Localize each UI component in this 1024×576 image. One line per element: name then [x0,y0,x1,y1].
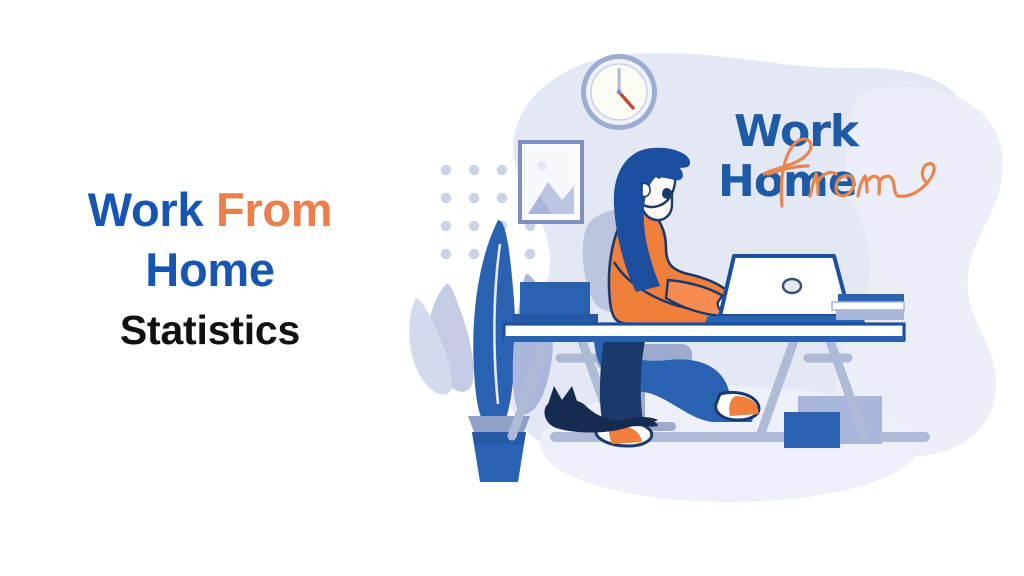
illustration [400,24,1024,552]
headline-line-1: Work From [0,180,420,240]
work-from-home-logo: Work Home [718,108,948,234]
floor-boxes [784,396,882,448]
logo-script-from [746,130,946,216]
headline-word-from: From [216,183,332,236]
page-title: Work From Home Statistics [0,180,420,357]
wall-clock-icon [581,54,657,130]
headline-line-2: Home [0,240,420,300]
potted-plant-icon [409,220,553,482]
picture-frame-icon [520,142,582,222]
poster-canvas: Work From Home Statistics [0,0,1024,576]
desk-box [512,282,598,324]
headline-line-3: Statistics [0,304,420,356]
desk-top [504,324,904,342]
headline-word-work: Work [88,183,203,236]
book-stack-icon [832,294,904,320]
